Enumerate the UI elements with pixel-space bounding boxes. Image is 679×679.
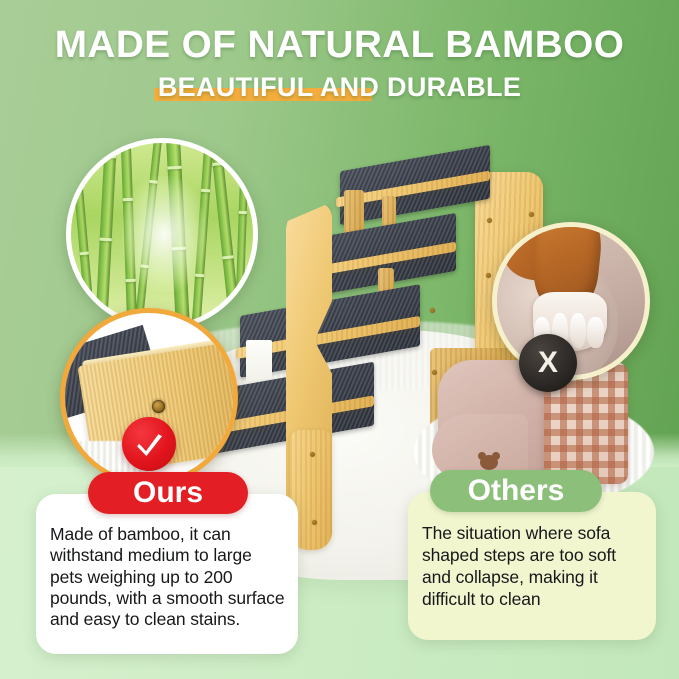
bamboo-forest-circle (66, 138, 258, 330)
bear-face-embroidery (478, 452, 500, 471)
screw-3 (486, 273, 491, 278)
screw-2 (529, 212, 534, 217)
others-badge: Others (430, 470, 602, 512)
screw-7 (310, 452, 315, 457)
check-badge (122, 417, 176, 471)
ours-description: Made of bamboo, it can withstand medium … (50, 524, 286, 631)
comparison-card-ours: Ours Made of bamboo, it can withstand me… (36, 494, 298, 654)
screw-1 (487, 218, 492, 223)
comparison-card-others: Others The situation where sofa shaped s… (408, 492, 656, 640)
cross-icon-label: X (538, 348, 558, 378)
others-description: The situation where sofa shaped steps ar… (422, 522, 644, 610)
screw-5 (430, 308, 435, 313)
cross-badge: X (519, 334, 577, 392)
bamboo-light-glow (122, 176, 206, 292)
check-icon (132, 427, 166, 461)
screw-8 (312, 520, 317, 525)
product-marketing-image: MADE OF NATURAL BAMBOO BEAUTIFUL AND DUR… (0, 0, 679, 679)
ours-badge: Ours (88, 472, 248, 514)
